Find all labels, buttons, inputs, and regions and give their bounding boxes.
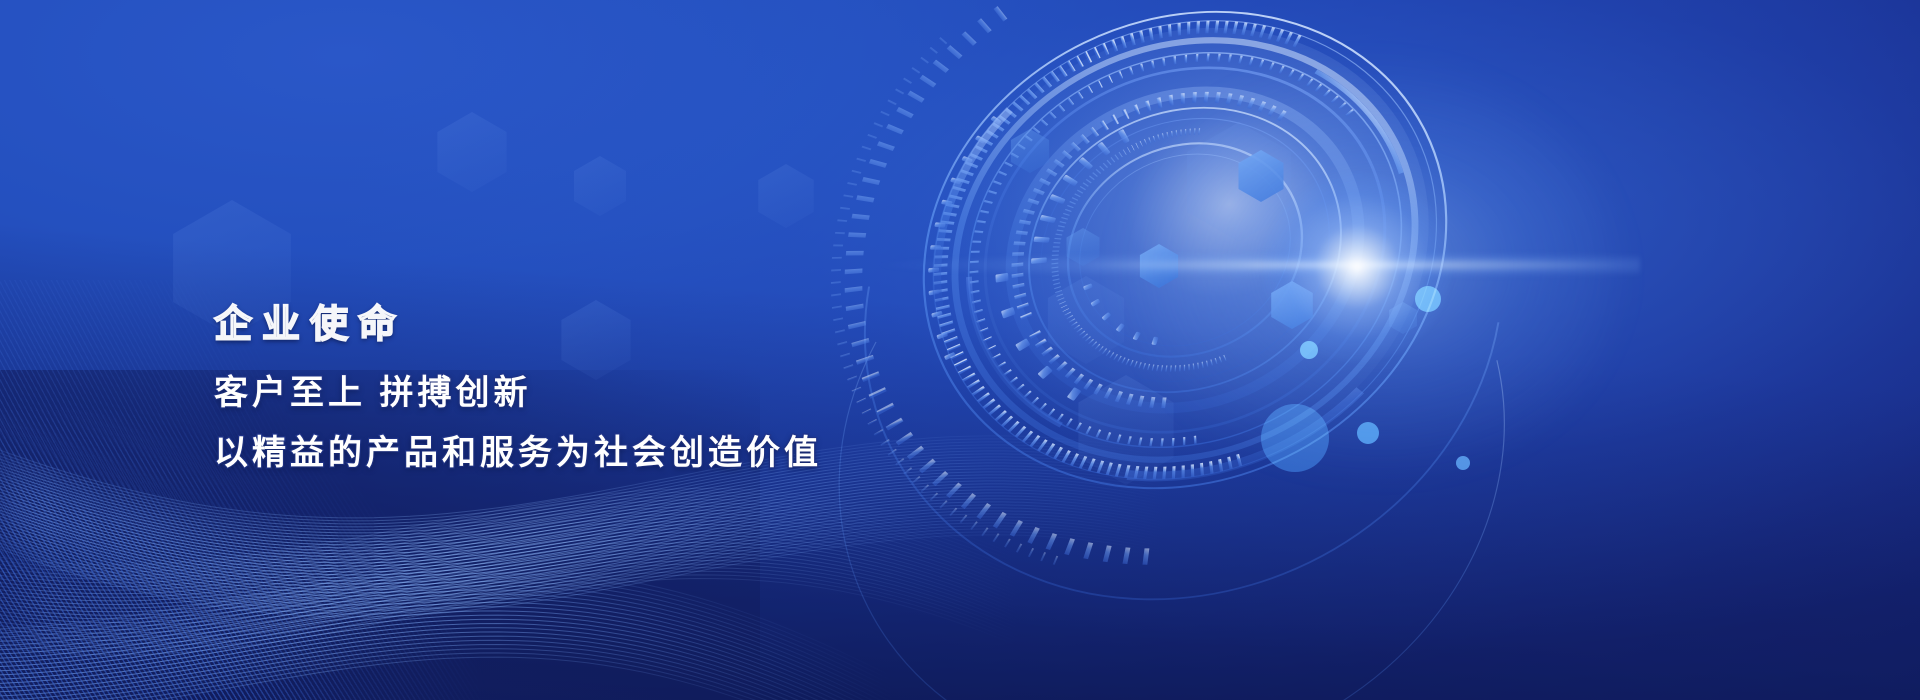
mission-text-block: 企业使命 客户至上 拼搏创新 以精益的产品和服务为社会创造价值 <box>214 306 822 470</box>
dot-1 <box>1415 286 1441 312</box>
dot-2 <box>1300 341 1318 359</box>
page-title: 企业使命 <box>214 306 822 344</box>
mission-line-2: 以精益的产品和服务为社会创造价值 <box>214 436 822 470</box>
mission-line-1: 客户至上 拼搏创新 <box>214 376 822 410</box>
dot-4 <box>1261 404 1329 472</box>
dot-3 <box>1357 422 1379 444</box>
banner-root: 企业使命 客户至上 拼搏创新 以精益的产品和服务为社会创造价值 <box>0 0 1920 700</box>
dot-5 <box>1456 456 1470 470</box>
